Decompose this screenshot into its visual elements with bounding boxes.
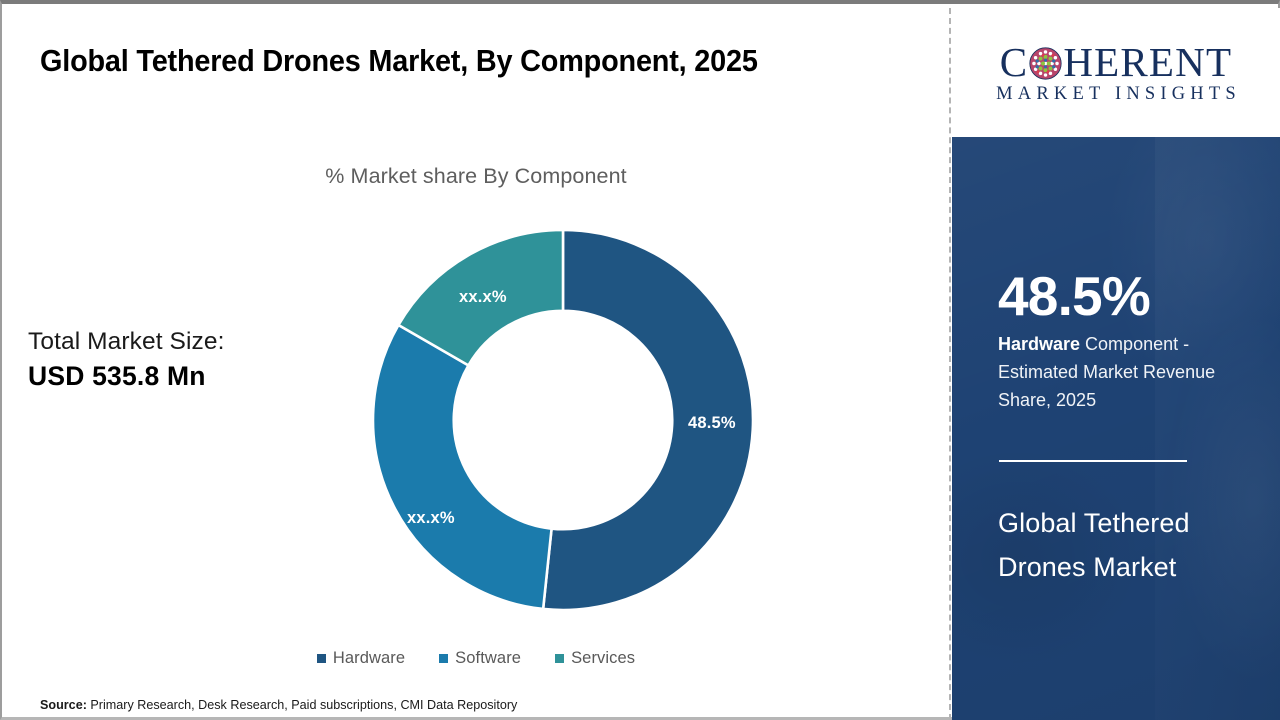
logo-wordmark: C <box>1000 42 1232 83</box>
legend-item-services[interactable]: Services <box>555 649 635 668</box>
slice-label-services: xx.x% <box>459 288 507 307</box>
infographic-frame: Global Tethered Drones Market, By Compon… <box>0 0 1280 720</box>
highlight-panel: 48.5% Hardware Component - Estimated Mar… <box>952 137 1280 720</box>
brand-panel: C <box>952 8 1280 720</box>
chart-legend: Hardware Software Services <box>2 649 950 668</box>
slice-label-hardware: 48.5% <box>688 414 736 433</box>
legend-swatch-hardware <box>317 654 326 663</box>
source-note: Source: Primary Research, Desk Research,… <box>40 698 517 712</box>
total-market-size-label: Total Market Size: <box>28 326 225 357</box>
stat-description: Hardware Component - Estimated Market Re… <box>998 331 1248 415</box>
logo-word-part1: C <box>1000 42 1029 83</box>
globe-icon <box>1029 47 1062 80</box>
panel-market-name: Global Tethered Drones Market <box>998 501 1248 589</box>
logo-word-part2: HERENT <box>1063 42 1232 83</box>
legend-label-software: Software <box>455 649 521 668</box>
legend-swatch-services <box>555 654 564 663</box>
legend-swatch-software <box>439 654 448 663</box>
total-market-size-value: USD 535.8 Mn <box>28 360 225 394</box>
chart-subtitle: % Market share By Component <box>2 164 950 189</box>
total-market-size-block: Total Market Size: USD 535.8 Mn <box>28 326 225 394</box>
slice-label-software: xx.x% <box>407 509 455 528</box>
chart-panel: Global Tethered Drones Market, By Compon… <box>2 4 950 720</box>
stat-description-strong: Hardware <box>998 334 1080 354</box>
panel-divider-rule <box>999 460 1187 462</box>
source-text: Primary Research, Desk Research, Paid su… <box>87 698 517 712</box>
stat-value: 48.5% <box>998 269 1150 324</box>
legend-label-hardware: Hardware <box>333 649 405 668</box>
panel-divider <box>949 8 951 720</box>
donut-slice-software[interactable] <box>373 325 552 609</box>
legend-label-services: Services <box>571 649 635 668</box>
page-title: Global Tethered Drones Market, By Compon… <box>40 36 849 86</box>
source-label: Source: <box>40 698 87 712</box>
donut-chart: 48.5% xx.x% xx.x% <box>367 224 759 616</box>
legend-item-software[interactable]: Software <box>439 649 521 668</box>
logo[interactable]: C <box>952 8 1280 137</box>
logo-tagline: MARKET INSIGHTS <box>991 85 1241 104</box>
legend-item-hardware[interactable]: Hardware <box>317 649 405 668</box>
